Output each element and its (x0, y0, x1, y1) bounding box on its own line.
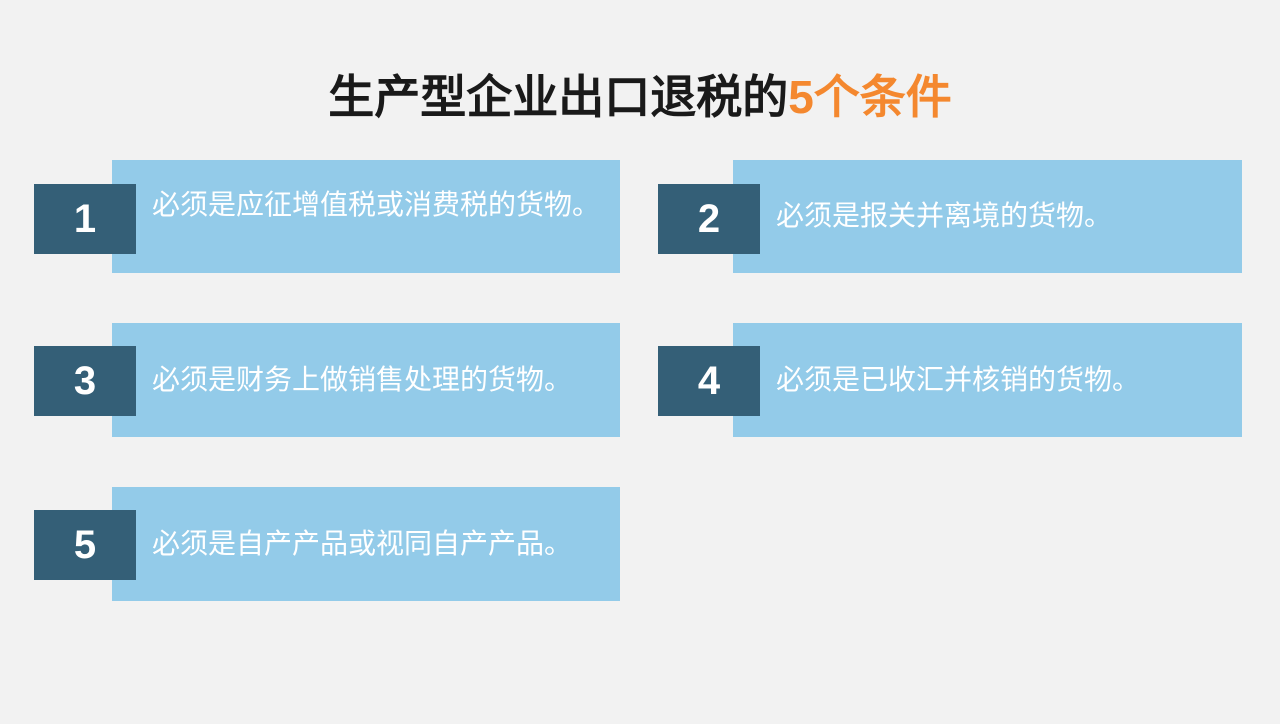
page-title-main: 生产型企业出口退税的 (328, 71, 788, 123)
condition-text-1: 必须是应征增值税或消费税的货物。 (152, 185, 612, 225)
slide-canvas: 生产型企业出口退税的5个条件 必须是应征增值税或消费税的货物。 1 必须是报关并… (0, 0, 1280, 724)
condition-text-2: 必须是报关并离境的货物。 (776, 196, 1231, 236)
condition-text-4: 必须是已收汇并核销的货物。 (776, 360, 1231, 400)
condition-number-badge-4: 4 (658, 346, 760, 416)
condition-number-badge-5: 5 (34, 510, 136, 580)
condition-number-label-1: 1 (74, 199, 96, 239)
condition-text-5: 必须是自产产品或视同自产产品。 (152, 524, 612, 564)
condition-number-badge-2: 2 (658, 184, 760, 254)
condition-text-3: 必须是财务上做销售处理的货物。 (152, 360, 612, 400)
condition-number-badge-1: 1 (34, 184, 136, 254)
condition-number-label-2: 2 (698, 199, 720, 239)
condition-number-label-3: 3 (74, 361, 96, 401)
condition-number-badge-3: 3 (34, 346, 136, 416)
condition-number-label-5: 5 (74, 525, 96, 565)
page-title-accent: 5个条件 (788, 71, 952, 123)
page-title: 生产型企业出口退税的5个条件 (0, 68, 1280, 126)
condition-number-label-4: 4 (698, 361, 720, 401)
